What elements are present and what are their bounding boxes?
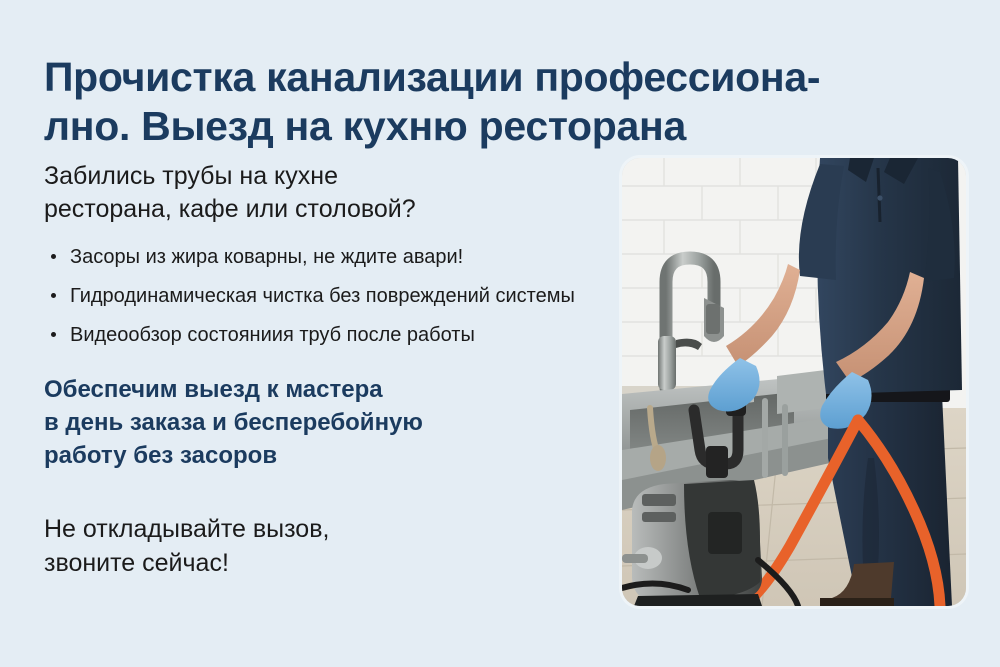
bullet-text: Видеообзор состояниия труб после работы bbox=[70, 324, 475, 346]
copy-column: Забились трубы на кухне ресторана, кафе … bbox=[44, 160, 614, 580]
benefits-list: Засоры из жира коварны, не ждите авари! … bbox=[44, 244, 614, 348]
cta-line-1: Не откладывайте вызов, bbox=[44, 512, 614, 546]
plumber-photo bbox=[622, 158, 966, 606]
bullet-text: Гидродинамическая чистка без повреждений… bbox=[70, 285, 575, 307]
promise-line-1: Обеспечим выезд к мастера bbox=[44, 373, 614, 406]
sink-leg bbox=[782, 404, 788, 476]
page-title: Прочистка канализации профессиона- лно. … bbox=[44, 53, 784, 151]
cta-line-2: звоните сейчас! bbox=[44, 546, 614, 580]
promise-block: Обеспечим выезд к мастера в день заказа … bbox=[44, 373, 614, 472]
list-item: Видеообзор состояниия труб после работы bbox=[44, 322, 614, 348]
sink-leg bbox=[762, 398, 768, 478]
promise-line-3: работу без засоров bbox=[44, 439, 614, 472]
lead-paragraph: Забились трубы на кухне ресторана, кафе … bbox=[44, 160, 614, 226]
poster-root: Прочистка канализации профессиона- лно. … bbox=[0, 0, 1000, 667]
bullet-text: Засоры из жира коварны, не ждите авари! bbox=[70, 246, 463, 268]
plumber-photo-illustration bbox=[622, 158, 966, 606]
list-item: Гидродинамическая чистка без повреждений… bbox=[44, 283, 614, 309]
promise-line-2: в день заказа и бесперебойную bbox=[44, 406, 614, 439]
call-to-action: Не откладывайте вызов, звоните сейчас! bbox=[44, 512, 614, 580]
lead-line-1: Забились трубы на кухне bbox=[44, 160, 614, 193]
headline-line-1: Прочистка канализации профессиона- bbox=[44, 53, 784, 102]
headline-line-2: лно. Выезд на кухню ресторана bbox=[44, 102, 784, 151]
lead-line-2: ресторана, кафе или столовой? bbox=[44, 193, 614, 226]
list-item: Засоры из жира коварны, не ждите авари! bbox=[44, 244, 614, 270]
